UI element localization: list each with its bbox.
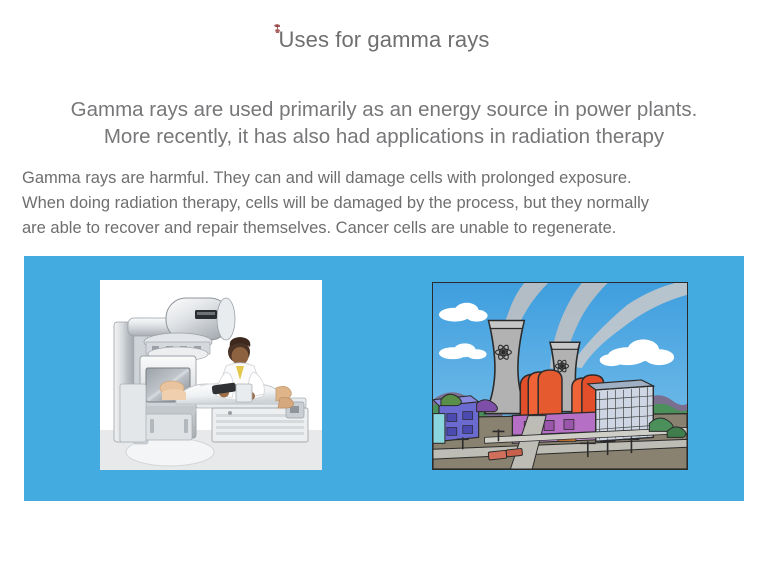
body-line-3: are able to recover and repair themselve… <box>22 216 748 241</box>
nuclear-power-plant-image <box>432 282 688 470</box>
page-title: Uses for gamma rays <box>0 26 768 54</box>
subtitle-line-1: Gamma rays are used primarily as an ener… <box>24 96 744 123</box>
body-paragraph: Gamma rays are harmful. They can and wil… <box>22 166 748 241</box>
image-panel <box>24 256 744 501</box>
body-line-1: Gamma rays are harmful. They can and wil… <box>22 166 748 191</box>
body-line-2: When doing radiation therapy, cells will… <box>22 191 748 216</box>
radiation-therapy-machine-image <box>100 280 322 470</box>
slide-subtitle: Gamma rays are used primarily as an ener… <box>24 96 744 150</box>
subtitle-line-2: More recently, it has also had applicati… <box>24 123 744 150</box>
